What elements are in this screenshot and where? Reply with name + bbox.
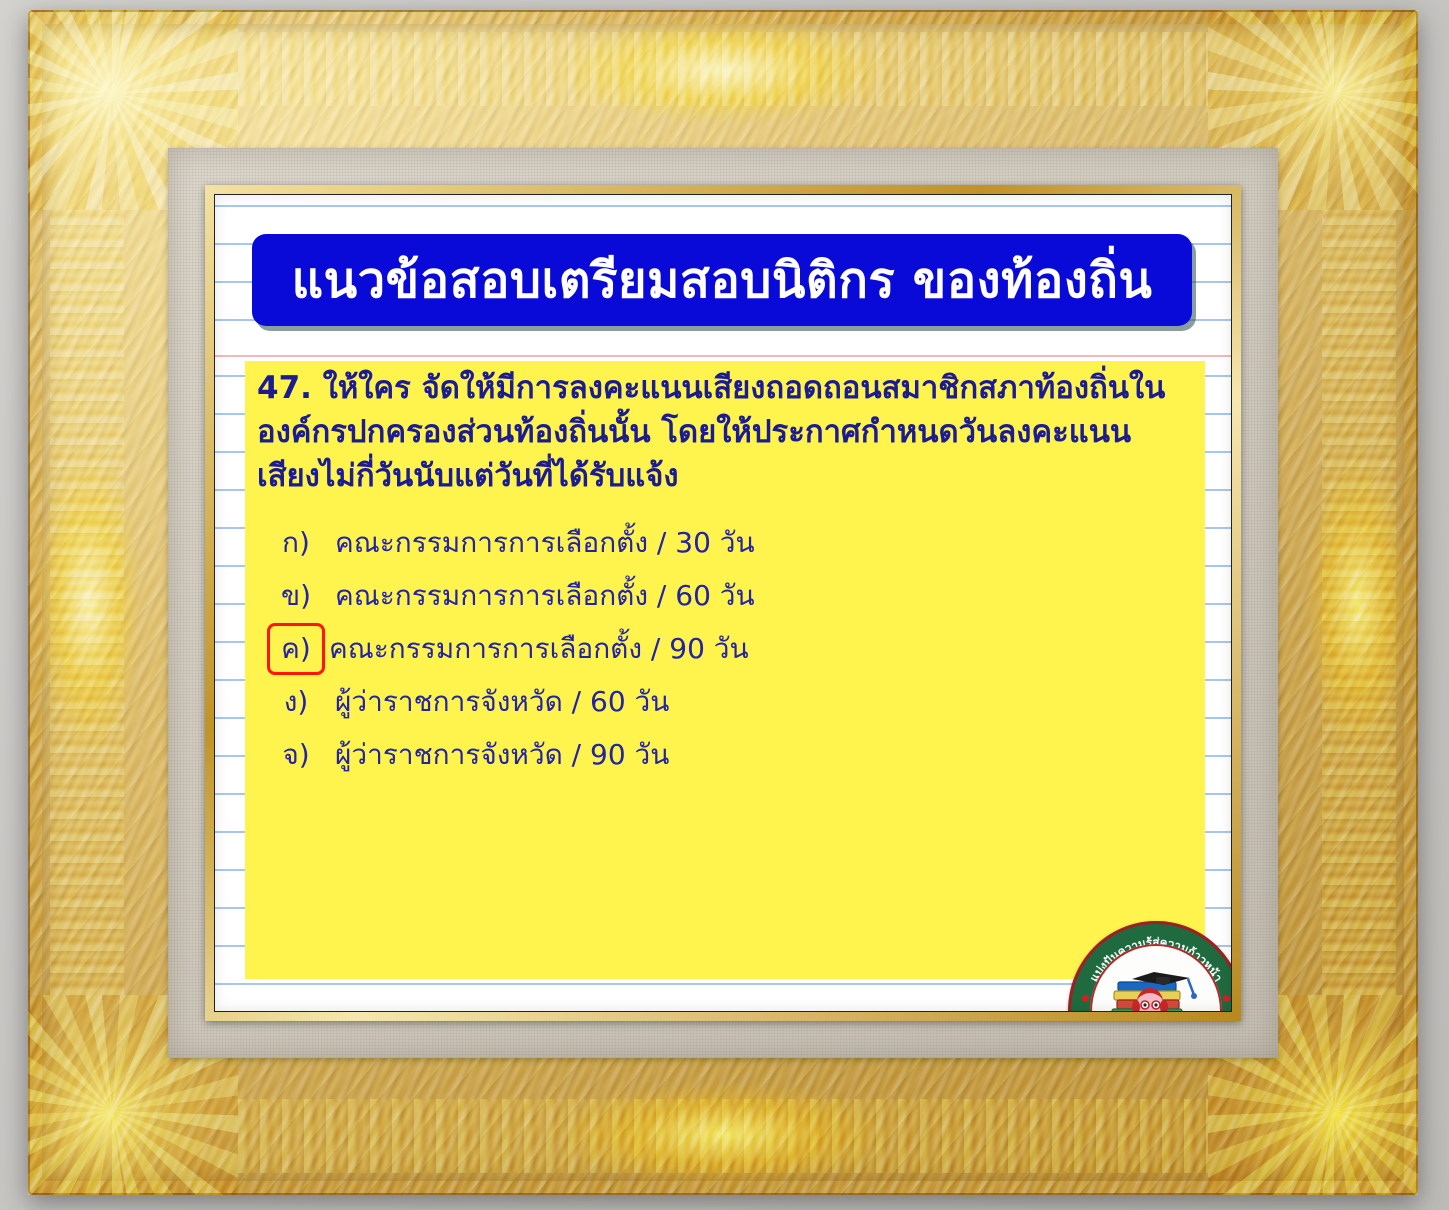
frame-cartouche-left (36, 453, 141, 753)
page-title: แนวข้อสอบเตรียมสอบนิติกร ของท้องถิ่น (292, 256, 1153, 305)
answer-choices-list: ก)คณะกรรมการการเลือกตั้ง / 30 วันข)คณะกร… (267, 516, 1187, 781)
title-banner: แนวข้อสอบเตรียมสอบนิติกร ของท้องถิ่น (252, 234, 1192, 326)
answer-choice-text: คณะกรรมการการเลือกตั้ง / 30 วัน (335, 521, 755, 565)
answer-choice-text: ผู้ว่าราชการจังหวัด / 90 วัน (335, 733, 669, 777)
frame-cartouche-right (1305, 453, 1410, 753)
yellow-highlight-block: 47. ให้ใคร จัดให้มีการลงคะแนนเสียงถอดถอน… (245, 361, 1205, 979)
wall-background: แนวข้อสอบเตรียมสอบนิติกร ของท้องถิ่น 47.… (0, 0, 1449, 1210)
question-line: เสียงไม่กี่วันนับแต่วันที่ได้รับแจ้ง (257, 454, 1205, 498)
slide-content: แนวข้อสอบเตรียมสอบนิติกร ของท้องถิ่น 47.… (215, 195, 1231, 1011)
notebook-header-rule (215, 355, 1231, 357)
question-line: องค์กรปกครองส่วนท้องถิ่นนั้น โดยให้ประกา… (257, 410, 1205, 454)
answer-choice-text: ผู้ว่าราชการจังหวัด / 60 วัน (335, 680, 669, 724)
seal-dot-left (1082, 995, 1089, 1002)
seal-dot-right (1223, 995, 1230, 1002)
question-line: 47. ให้ใคร จัดให้มีการลงคะแนนเสียงถอดถอน… (257, 366, 1205, 410)
answer-choice-label: ข) (267, 572, 325, 620)
frame-rail-right (1322, 210, 1396, 995)
answer-choice-label: ก) (267, 519, 325, 567)
frame-rail-left (50, 210, 124, 995)
answer-choice[interactable]: จ)ผู้ว่าราชการจังหวัด / 90 วัน (267, 728, 1187, 781)
answer-choice-label-selected: ค) (267, 623, 325, 675)
answer-choice-label: จ) (267, 731, 325, 779)
answer-choice-text: คณะกรรมการการเลือกตั้ง / 90 วัน (329, 627, 749, 671)
answer-choice[interactable]: ก)คณะกรรมการการเลือกตั้ง / 30 วัน (267, 516, 1187, 569)
answer-choice[interactable]: ข)คณะกรรมการการเลือกตั้ง / 60 วัน (267, 569, 1187, 622)
frame-rail-bottom (238, 1099, 1208, 1173)
answer-choice-text: คณะกรรมการการเลือกตั้ง / 60 วัน (335, 574, 755, 618)
frame-rail-top (238, 32, 1208, 106)
seal-inner-disc: ประพันธ์ เวารัมย์ 08-1049-8489 E-Mail : … (1090, 944, 1222, 1011)
question-text: 47. ให้ใคร จัดให้มีการลงคะแนนเสียงถอดถอน… (257, 366, 1205, 498)
answer-choice[interactable]: ง)ผู้ว่าราชการจังหวัด / 60 วัน (267, 675, 1187, 728)
graduate-books-illustration (1102, 952, 1212, 1011)
frame-cartouche-top (558, 18, 888, 123)
frame-cartouche-bottom (558, 1082, 888, 1187)
answer-choice-label: ง) (267, 678, 325, 726)
answer-choice[interactable]: ค)คณะกรรมการการเลือกตั้ง / 90 วัน (267, 622, 1187, 675)
